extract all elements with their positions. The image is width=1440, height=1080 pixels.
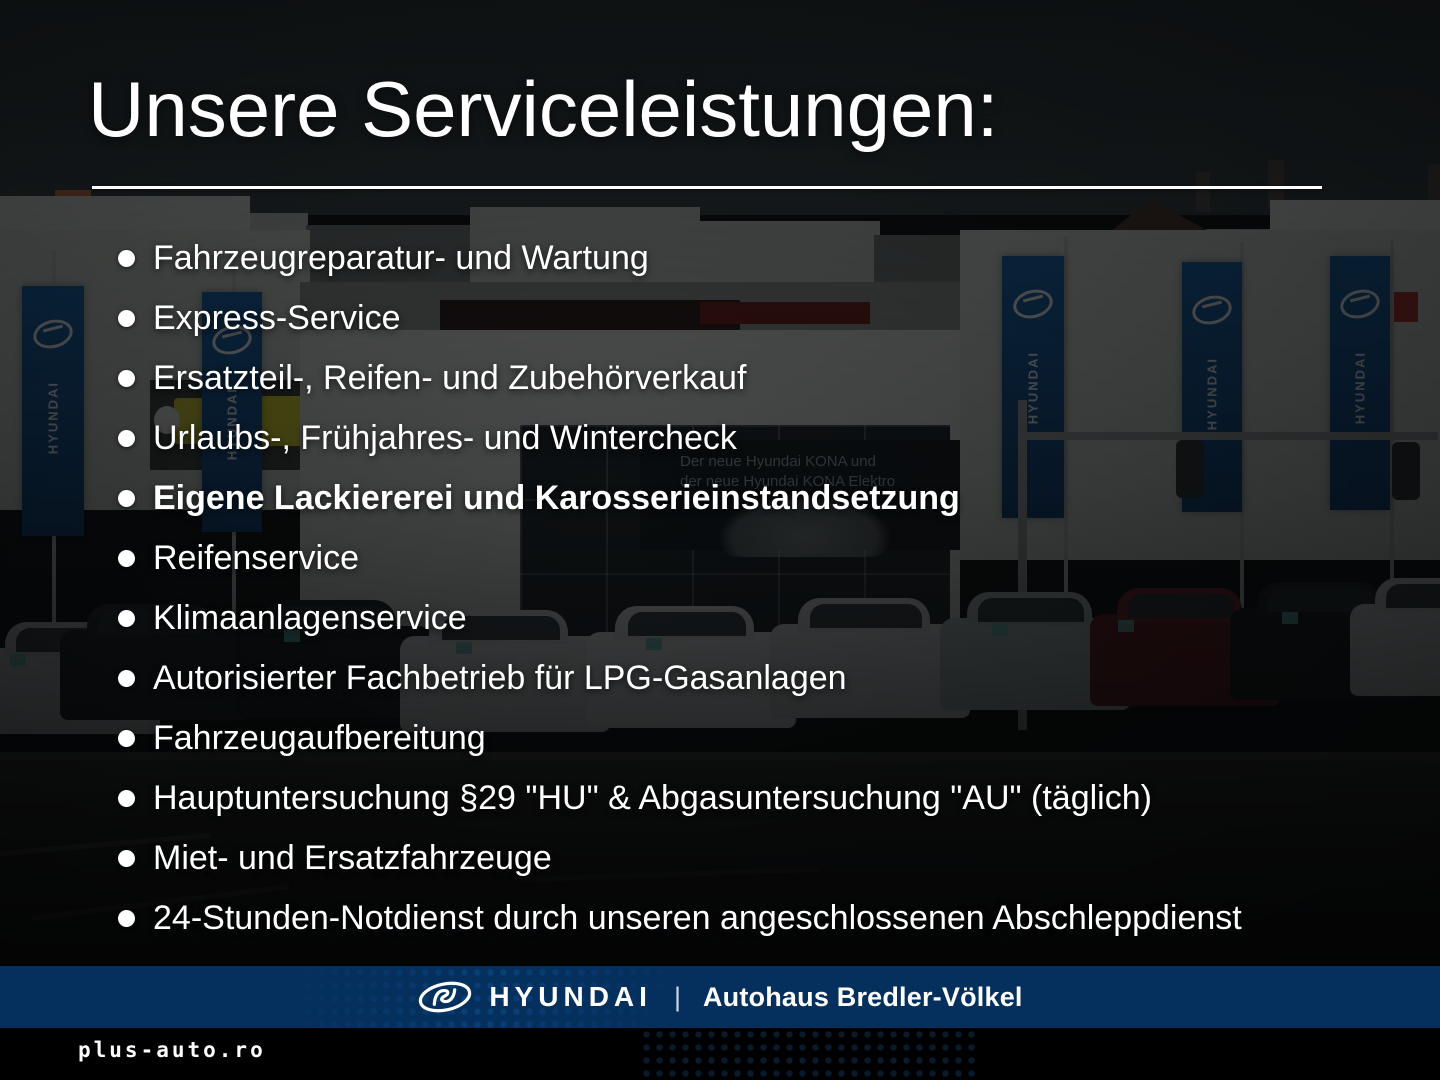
bullet-icon xyxy=(118,310,135,327)
list-item: Klimaanlagenservice xyxy=(118,588,1418,648)
watermark-halftone-pattern xyxy=(640,1028,980,1080)
list-item-label: Miet- und Ersatzfahrzeuge xyxy=(153,838,552,878)
bullet-icon xyxy=(118,850,135,867)
bullet-icon xyxy=(118,610,135,627)
hyundai-logo-icon xyxy=(417,980,473,1014)
bullet-icon xyxy=(118,490,135,507)
footer-bar: HYUNDAI | Autohaus Bredler-Völkel xyxy=(0,966,1440,1028)
bullet-icon xyxy=(118,730,135,747)
list-item-label: Reifenservice xyxy=(153,538,359,578)
list-item-label: Express-Service xyxy=(153,298,401,338)
list-item-label: Klimaanlagenservice xyxy=(153,598,467,638)
list-item: Urlaubs-, Frühjahres- und Wintercheck xyxy=(118,408,1418,468)
list-item-label: Fahrzeugreparatur- und Wartung xyxy=(153,238,649,278)
bullet-icon xyxy=(118,250,135,267)
list-item: Fahrzeugaufbereitung xyxy=(118,708,1418,768)
bullet-icon xyxy=(118,370,135,387)
bullet-icon xyxy=(118,910,135,927)
list-item: Fahrzeugreparatur- und Wartung xyxy=(118,228,1418,288)
footer-brand: HYUNDAI | Autohaus Bredler-Völkel xyxy=(417,980,1022,1014)
list-item-highlighted: Eigene Lackiererei und Karosserieinstand… xyxy=(118,468,1418,528)
slide-root: Der neue Hyundai KONA und der neue Hyund… xyxy=(0,0,1440,1080)
list-item: 24-Stunden-Notdienst durch unseren anges… xyxy=(118,888,1418,948)
list-item: Autorisierter Fachbetrieb für LPG-Gasanl… xyxy=(118,648,1418,708)
list-item: Miet- und Ersatzfahrzeuge xyxy=(118,828,1418,888)
list-item-label: Fahrzeugaufbereitung xyxy=(153,718,486,758)
list-item-label: 24-Stunden-Notdienst durch unseren anges… xyxy=(153,898,1242,938)
list-item-label: Ersatzteil-, Reifen- und Zubehörverkauf xyxy=(153,358,746,398)
list-item: Express-Service xyxy=(118,288,1418,348)
bullet-icon xyxy=(118,550,135,567)
bullet-icon xyxy=(118,670,135,687)
services-list: Fahrzeugreparatur- und Wartung Express-S… xyxy=(118,228,1418,948)
list-item: Ersatzteil-, Reifen- und Zubehörverkauf xyxy=(118,348,1418,408)
list-item: Hauptuntersuchung §29 "HU" & Abgasunters… xyxy=(118,768,1418,828)
page-title: Unsere Serviceleistungen: xyxy=(88,66,998,152)
watermark-text: plus-auto.ro xyxy=(78,1038,266,1062)
bullet-icon xyxy=(118,430,135,447)
footer-separator: | xyxy=(674,982,681,1013)
bullet-icon xyxy=(118,790,135,807)
list-item-label: Eigene Lackiererei und Karosserieinstand… xyxy=(153,478,960,518)
list-item-label: Urlaubs-, Frühjahres- und Wintercheck xyxy=(153,418,737,458)
hyundai-wordmark: HYUNDAI xyxy=(489,981,652,1013)
list-item-label: Autorisierter Fachbetrieb für LPG-Gasanl… xyxy=(153,658,847,698)
slide-content: Unsere Serviceleistungen: Fahrzeugrepara… xyxy=(0,0,1440,1080)
title-underline-rule xyxy=(92,186,1322,189)
dealer-name: Autohaus Bredler-Völkel xyxy=(703,982,1023,1013)
list-item-label: Hauptuntersuchung §29 "HU" & Abgasunters… xyxy=(153,778,1152,818)
list-item: Reifenservice xyxy=(118,528,1418,588)
